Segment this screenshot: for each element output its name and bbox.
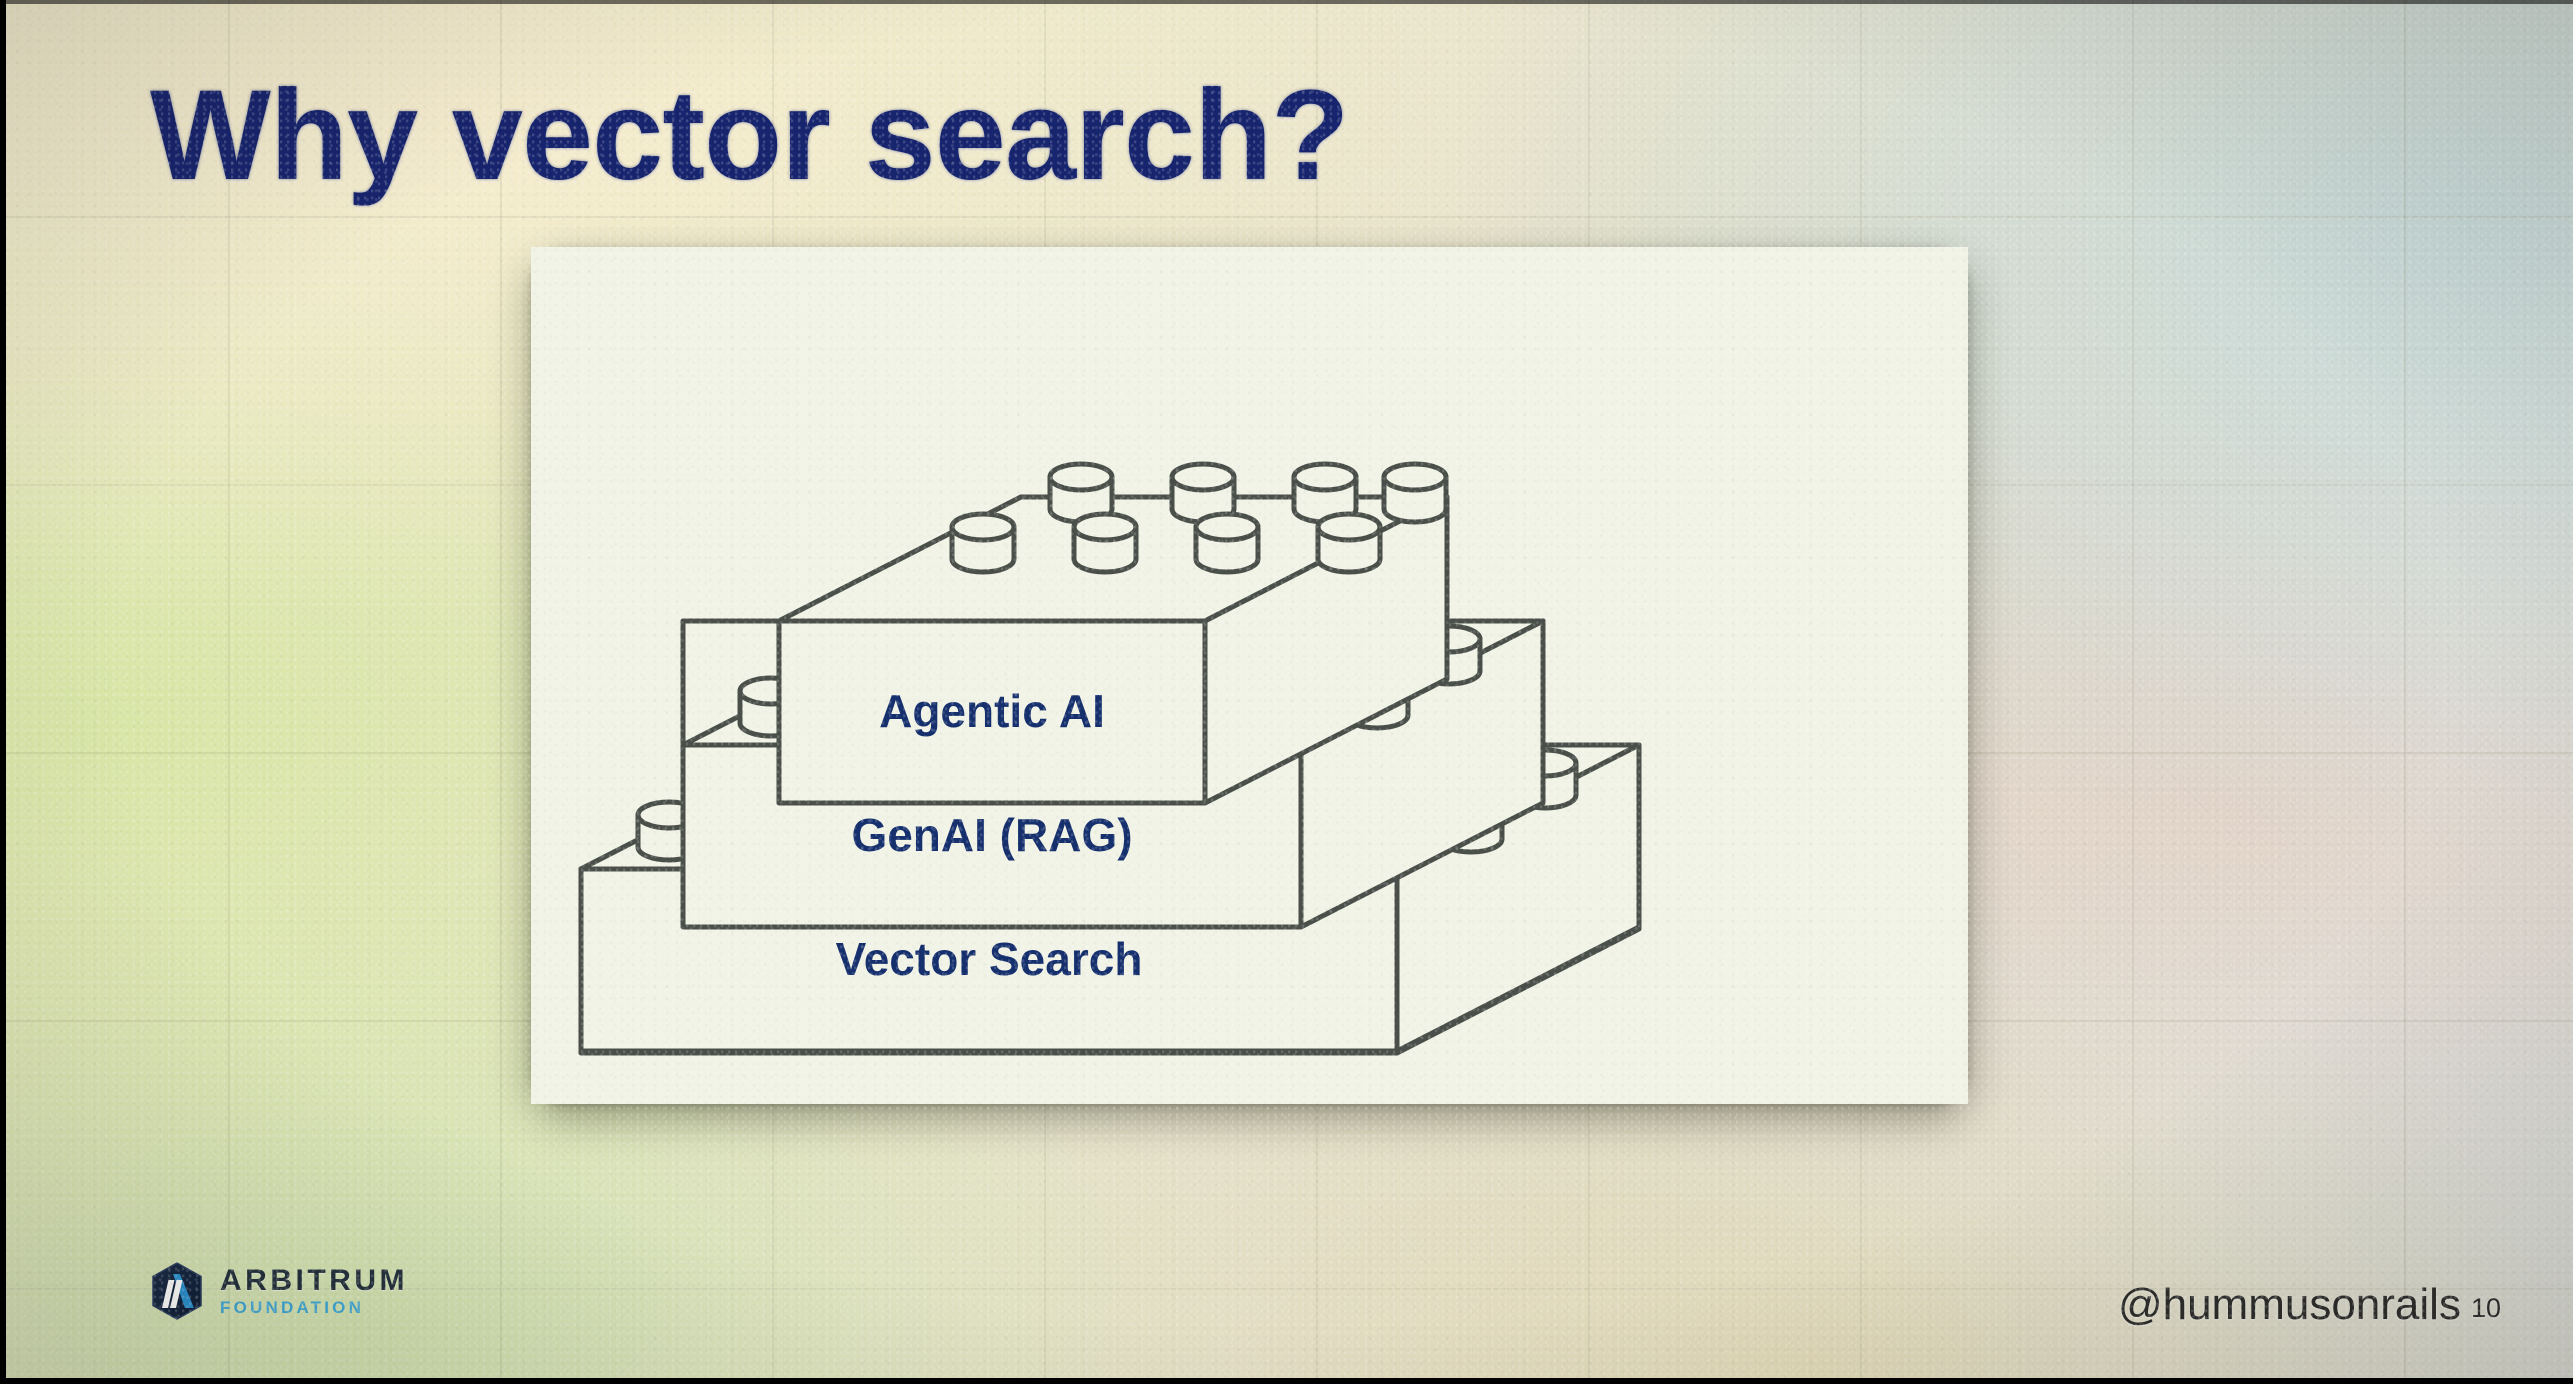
arbitrum-foundation-logo: ARBITRUM FOUNDATION [150,1262,408,1320]
photo-edge-bottom [0,1378,2573,1384]
photo-edge-left [0,0,6,1384]
speaker-handle: @hummusonrails [2118,1280,2461,1329]
stud [1074,514,1136,572]
stud [1196,514,1258,572]
brick-label-genai-rag: GenAI (RAG) [851,809,1132,861]
brick-label-vector-search: Vector Search [836,933,1143,985]
stud [952,514,1014,572]
logo-text-primary: ARBITRUM [220,1266,408,1296]
page-title: Why vector search? [150,62,1348,209]
brick-label-agentic-ai: Agentic AI [879,685,1105,737]
logo-text-secondary: FOUNDATION [220,1299,408,1316]
page-number: 10 [2471,1293,2501,1323]
lego-stack-diagram-main: Agentic AI GenAI (RAG) Vector Search [531,247,1968,1104]
stud [1384,464,1446,522]
presentation-slide: Why vector search? [0,0,2573,1384]
photo-edge-top [0,0,2573,4]
stud [1318,514,1380,572]
footer-handle: @hummusonrails10 [2118,1280,2501,1330]
arbitrum-hexagon-icon [150,1262,204,1320]
